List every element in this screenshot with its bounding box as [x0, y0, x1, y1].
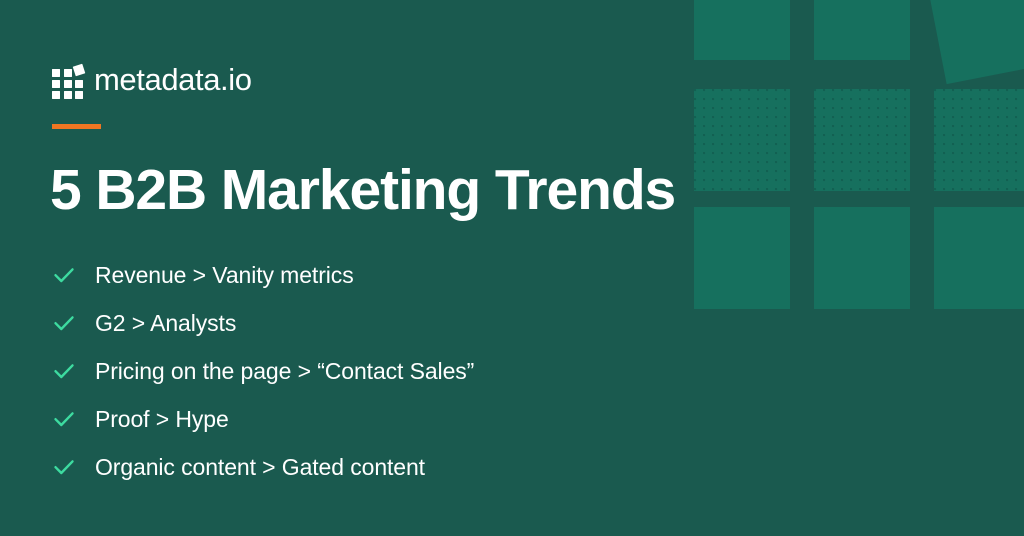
check-icon — [53, 264, 75, 286]
decorative-tile — [814, 207, 910, 309]
list-item: Organic content > Gated content — [53, 443, 474, 491]
list-item: Pricing on the page > “Contact Sales” — [53, 347, 474, 395]
page-title: 5 B2B Marketing Trends — [50, 157, 675, 223]
brand-logo: metadata.io — [52, 57, 252, 101]
list-item-label: Organic content > Gated content — [95, 456, 425, 479]
check-icon — [53, 456, 75, 478]
decorative-tile — [934, 207, 1024, 309]
decorative-tile — [814, 89, 910, 191]
check-icon — [53, 312, 75, 334]
check-icon — [53, 360, 75, 382]
list-item-label: G2 > Analysts — [95, 312, 236, 335]
list-item: Proof > Hype — [53, 395, 474, 443]
accent-rule — [52, 124, 101, 129]
brand-wordmark: metadata.io — [94, 64, 252, 95]
list-item-label: Proof > Hype — [95, 408, 229, 431]
decorative-tile — [814, 0, 910, 60]
trends-checklist: Revenue > Vanity metrics G2 > Analysts P… — [53, 251, 474, 491]
decorative-tile — [694, 89, 790, 191]
decorative-tile — [694, 0, 790, 60]
grid-nine-squares-icon — [52, 64, 83, 95]
decorative-tile — [934, 89, 1024, 191]
decorative-tile — [694, 207, 790, 309]
decorative-tile-rotated — [920, 0, 1024, 84]
list-item-label: Revenue > Vanity metrics — [95, 264, 354, 287]
list-item-label: Pricing on the page > “Contact Sales” — [95, 360, 474, 383]
check-icon — [53, 408, 75, 430]
decorative-grid-pattern — [694, 0, 1024, 338]
list-item: G2 > Analysts — [53, 299, 474, 347]
slide-canvas: metadata.io 5 B2B Marketing Trends Reven… — [0, 0, 1024, 536]
list-item: Revenue > Vanity metrics — [53, 251, 474, 299]
